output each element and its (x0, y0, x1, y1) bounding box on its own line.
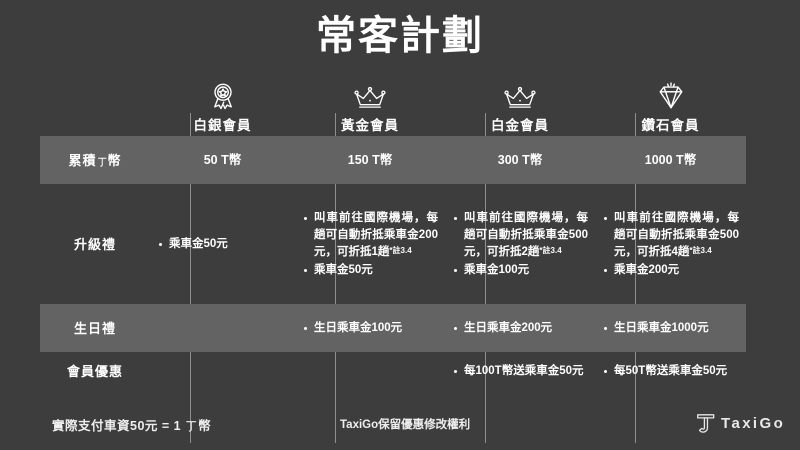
cell-gold-benefit (295, 352, 445, 390)
tier-header-diamond: 鑽石會員 (595, 76, 746, 136)
footnote-marker: *註3.4 (539, 246, 561, 255)
taxigo-logo: TaxiGo (694, 410, 785, 436)
table-header-row: 白銀會員 黃金會員 (40, 76, 746, 136)
row-label-accumulated-coins: 累積幣 (40, 136, 150, 184)
diamond-icon (655, 81, 687, 111)
list-item: 乘車金100元 (453, 262, 588, 279)
cell-diamond-accumulated: 1000 T幣 (595, 136, 746, 184)
rosette-badge-icon (208, 81, 238, 111)
tier-header-silver: 白銀會員 (150, 76, 295, 136)
bullet-list: 每50T幣送乘車金50元 (603, 363, 739, 380)
tier-name-diamond: 鑽石會員 (642, 118, 700, 134)
list-item: 乘車金200元 (603, 262, 739, 279)
bullet-list: 叫車前往國際機場，每趟可自動折抵乘車金200元，可折抵1趟*註3.4 乘車金50… (303, 210, 438, 278)
crown-icon (353, 81, 387, 111)
tier-name-gold: 黃金會員 (341, 118, 399, 134)
cell-gold-birthday: 生日乘車金100元 (295, 304, 445, 352)
tier-name-silver: 白銀會員 (194, 118, 252, 134)
footer-conversion-text-before: 實際支付車資50元 = 1 (52, 419, 185, 433)
bullet-list: 叫車前往國際機場，每趟可自動折抵乘車金500元，可折抵4趟*註3.4 乘車金20… (603, 210, 739, 278)
table-row: 生日禮 生日乘車金100元 生日乘車金200元 生日乘車金1000元 (40, 304, 746, 352)
taxigo-t-logo-icon (694, 410, 720, 436)
row-label-text: 累積幣 (68, 152, 121, 169)
cell-silver-accumulated: 50 T幣 (150, 136, 295, 184)
bullet-list: 乘車金50元 (158, 236, 288, 253)
cell-silver-benefit (150, 352, 295, 390)
footer-conversion-text-after: 幣 (198, 419, 211, 433)
list-item: 生日乘車金100元 (303, 320, 438, 337)
bullet-list: 生日乘車金100元 (303, 320, 438, 337)
membership-tier-table: 白銀會員 黃金會員 (40, 76, 746, 390)
row-label-member-benefit: 會員優惠 (40, 352, 150, 390)
tier-header-gold: 黃金會員 (295, 76, 445, 136)
bullet-list: 生日乘車金1000元 (603, 320, 739, 337)
cell-silver-upgrade: 乘車金50元 (150, 184, 295, 304)
footnote-marker: *註3.4 (389, 246, 411, 255)
row-label-upgrade-gift: 升級禮 (40, 184, 150, 304)
tier-name-platinum: 白金會員 (491, 118, 549, 134)
list-item: 每50T幣送乘車金50元 (603, 363, 739, 380)
list-item: 乘車金50元 (158, 236, 288, 253)
slide-root: 常客計劃 白銀會員 (0, 0, 800, 450)
page-title: 常客計劃 (0, 12, 800, 60)
list-item: 叫車前往國際機場，每趟可自動折抵乘車金200元，可折抵1趟*註3.4 (303, 210, 438, 261)
crown-icon (503, 81, 537, 111)
t-coin-logo-icon (97, 156, 108, 167)
list-item: 每100T幣送乘車金50元 (453, 363, 588, 380)
cell-platinum-upgrade: 叫車前往國際機場，每趟可自動折抵乘車金500元，可折抵2趟*註3.4 乘車金10… (445, 184, 595, 304)
list-item: 生日乘車金200元 (453, 320, 588, 337)
bullet-list: 叫車前往國際機場，每趟可自動折抵乘車金500元，可折抵2趟*註3.4 乘車金10… (453, 210, 588, 278)
list-item: 叫車前往國際機場，每趟可自動折抵乘車金500元，可折抵4趟*註3.4 (603, 210, 739, 261)
footnote-marker: *註3.4 (689, 246, 711, 255)
cell-gold-accumulated: 150 T幣 (295, 136, 445, 184)
cell-diamond-upgrade: 叫車前往國際機場，每趟可自動折抵乘車金500元，可折抵4趟*註3.4 乘車金20… (595, 184, 746, 304)
table-row: 會員優惠 每100T幣送乘車金50元 每50T幣送乘車金50元 (40, 352, 746, 390)
row-label-birthday-gift: 生日禮 (40, 304, 150, 352)
list-item: 乘車金50元 (303, 262, 438, 279)
bullet-list: 生日乘車金200元 (453, 320, 588, 337)
tier-header-platinum: 白金會員 (445, 76, 595, 136)
cell-gold-upgrade: 叫車前往國際機場，每趟可自動折抵乘車金200元，可折抵1趟*註3.4 乘車金50… (295, 184, 445, 304)
table-row: 升級禮 乘車金50元 叫車前往國際機場，每趟可自動折抵乘車金200元，可折抵1趟… (40, 184, 746, 304)
cell-platinum-accumulated: 300 T幣 (445, 136, 595, 184)
table-row: 累積幣 50 T幣 150 T幣 300 T幣 1000 T幣 (40, 136, 746, 184)
cell-platinum-benefit: 每100T幣送乘車金50元 (445, 352, 595, 390)
cell-diamond-benefit: 每50T幣送乘車金50元 (595, 352, 746, 390)
cell-diamond-birthday: 生日乘車金1000元 (595, 304, 746, 352)
list-item: 生日乘車金1000元 (603, 320, 739, 337)
footer-disclaimer: TaxiGo保留優惠修改權利 (340, 416, 470, 432)
footer-conversion-note: 實際支付車資50元 = 1 幣 (52, 415, 211, 434)
t-coin-logo-icon (185, 419, 198, 432)
taxigo-logo-text: TaxiGo (721, 415, 785, 432)
header-corner-cell (40, 76, 150, 136)
bullet-list: 每100T幣送乘車金50元 (453, 363, 588, 380)
cell-platinum-birthday: 生日乘車金200元 (445, 304, 595, 352)
list-item: 叫車前往國際機場，每趟可自動折抵乘車金500元，可折抵2趟*註3.4 (453, 210, 588, 261)
cell-silver-birthday (150, 304, 295, 352)
